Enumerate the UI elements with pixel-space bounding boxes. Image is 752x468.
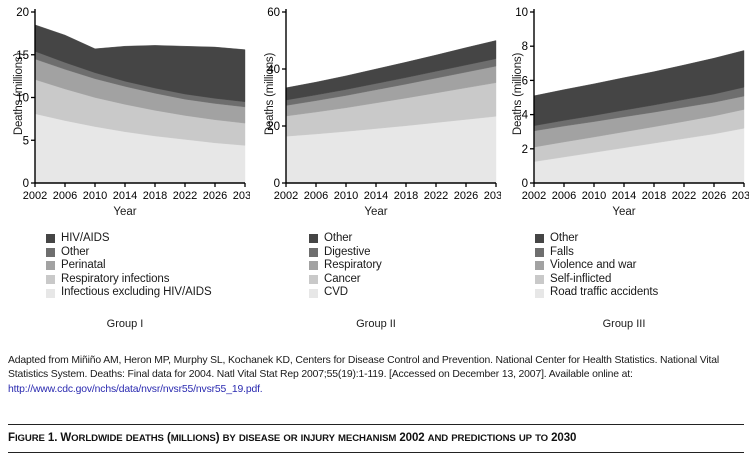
svg-text:0: 0: [274, 178, 280, 190]
legend-item: Other: [535, 232, 658, 246]
legend-item-label: Road traffic accidents: [550, 286, 658, 300]
svg-text:2018: 2018: [394, 190, 418, 202]
svg-text:2022: 2022: [672, 190, 696, 202]
legend-item: HIV/AIDS: [46, 232, 212, 246]
group-label-1: Group I: [0, 318, 250, 330]
plot-area-group-1: Deaths (millions) 0510152020022006201020…: [0, 0, 250, 230]
legend-item-label: Other: [324, 232, 352, 246]
svg-text:20: 20: [267, 121, 280, 133]
legend-group-2: Other Digestive Respiratory Cancer CVD: [309, 232, 382, 300]
svg-text:2002: 2002: [274, 190, 298, 202]
figure-caption: FIGURE 1. WORLDWIDE DEATHS (MILLIONS) BY…: [8, 432, 746, 444]
legend-swatch-icon: [46, 289, 55, 298]
legend-swatch-icon: [535, 248, 544, 257]
legend-item-label: CVD: [324, 286, 348, 300]
legend-item-label: Infectious excluding HIV/AIDS: [61, 286, 212, 300]
title-rule-top: [8, 424, 744, 425]
legend-item: Violence and war: [535, 259, 658, 273]
svg-text:2026: 2026: [454, 190, 478, 202]
legend-swatch-icon: [535, 234, 544, 243]
svg-text:2: 2: [522, 144, 528, 156]
legend-item: Falls: [535, 246, 658, 260]
legend-item: CVD: [309, 286, 382, 300]
svg-text:20: 20: [16, 7, 29, 19]
svg-text:10: 10: [16, 93, 29, 105]
legend-swatch-icon: [46, 275, 55, 284]
legend-item-label: Other: [550, 232, 578, 246]
legend-swatch-icon: [309, 234, 318, 243]
svg-text:2014: 2014: [113, 190, 137, 202]
svg-text:5: 5: [23, 135, 29, 147]
legend-item-label: Other: [61, 246, 89, 260]
plot-area-group-2: Deaths (millions) 0204060200220062010201…: [251, 0, 501, 230]
svg-text:2002: 2002: [23, 190, 47, 202]
legend-swatch-icon: [309, 275, 318, 284]
area-chart-group-2: 020406020022006201020142018202220262030: [251, 0, 501, 205]
group-label-3: Group III: [499, 318, 749, 330]
chart-panel-group-2: Deaths (millions) 0204060200220062010201…: [251, 0, 501, 312]
svg-text:15: 15: [16, 50, 29, 62]
legend-swatch-icon: [309, 248, 318, 257]
chart-panel-group-1: Deaths (millions) 0510152020022006201020…: [0, 0, 250, 312]
area-chart-group-1: 0510152020022006201020142018202220262030: [0, 0, 250, 205]
legend-item: Cancer: [309, 273, 382, 287]
svg-text:2006: 2006: [552, 190, 576, 202]
svg-text:2010: 2010: [334, 190, 358, 202]
legend-swatch-icon: [535, 275, 544, 284]
legend-item-label: Falls: [550, 246, 574, 260]
svg-text:2014: 2014: [364, 190, 388, 202]
legend-swatch-icon: [46, 234, 55, 243]
svg-text:2010: 2010: [582, 190, 606, 202]
svg-text:8: 8: [522, 41, 528, 53]
legend-swatch-icon: [46, 248, 55, 257]
legend-item-label: Respiratory: [324, 259, 382, 273]
legend-item-label: Cancer: [324, 273, 360, 287]
legend-item: Digestive: [309, 246, 382, 260]
legend-swatch-icon: [309, 289, 318, 298]
legend-swatch-icon: [535, 261, 544, 270]
svg-text:2026: 2026: [203, 190, 227, 202]
legend-item: Other: [46, 246, 212, 260]
svg-text:2006: 2006: [53, 190, 77, 202]
legend-group-1: HIV/AIDS Other Perinatal Respiratory inf…: [46, 232, 212, 300]
svg-text:2006: 2006: [304, 190, 328, 202]
legend-item-label: Perinatal: [61, 259, 106, 273]
legend-item: Self-inflicted: [535, 273, 658, 287]
chart-panel-group-3: Deaths (millions) 0246810200220062010201…: [499, 0, 749, 312]
legend-item-label: Violence and war: [550, 259, 636, 273]
legend-item-label: Self-inflicted: [550, 273, 611, 287]
svg-text:2022: 2022: [424, 190, 448, 202]
svg-text:10: 10: [515, 7, 528, 19]
svg-text:0: 0: [23, 178, 29, 190]
area-chart-group-3: 024681020022006201020142018202220262030: [499, 0, 749, 205]
x-axis-label-2: Year: [251, 206, 501, 218]
svg-text:2014: 2014: [612, 190, 636, 202]
footnote-line-1: Adapted from Miñiño AM, Heron MP, Murphy…: [8, 355, 697, 366]
legend-item: Infectious excluding HIV/AIDS: [46, 286, 212, 300]
source-url-part-1[interactable]: http://www.: [8, 384, 57, 395]
source-footnote: Adapted from Miñiño AM, Heron MP, Murphy…: [8, 354, 746, 397]
svg-text:6: 6: [522, 75, 528, 87]
svg-text:2022: 2022: [173, 190, 197, 202]
svg-text:2010: 2010: [83, 190, 107, 202]
svg-text:40: 40: [267, 64, 280, 76]
legend-item-label: Respiratory infections: [61, 273, 169, 287]
source-url-part-2[interactable]: cdc.gov/nchs/data/nvsr/nvsr55/nvsr55_19.…: [57, 384, 262, 395]
legend-item-label: Digestive: [324, 246, 370, 260]
svg-text:2002: 2002: [522, 190, 546, 202]
x-axis-label-1: Year: [0, 206, 250, 218]
legend-swatch-icon: [46, 261, 55, 270]
svg-text:2018: 2018: [642, 190, 666, 202]
legend-item: Respiratory infections: [46, 273, 212, 287]
figure-container: Deaths (millions) 0510152020022006201020…: [0, 0, 752, 468]
title-rule-bottom: [8, 452, 744, 453]
legend-item: Road traffic accidents: [535, 286, 658, 300]
svg-text:2030: 2030: [732, 190, 749, 202]
legend-item-label: HIV/AIDS: [61, 232, 109, 246]
legend-swatch-icon: [309, 261, 318, 270]
x-axis-label-3: Year: [499, 206, 749, 218]
svg-text:60: 60: [267, 7, 280, 19]
svg-text:2030: 2030: [233, 190, 250, 202]
svg-text:4: 4: [522, 110, 529, 122]
legend-item: Perinatal: [46, 259, 212, 273]
legend-item: Other: [309, 232, 382, 246]
legend-item: Respiratory: [309, 259, 382, 273]
group-label-2: Group II: [251, 318, 501, 330]
svg-text:2026: 2026: [702, 190, 726, 202]
svg-text:2018: 2018: [143, 190, 167, 202]
svg-text:0: 0: [522, 178, 528, 190]
plot-area-group-3: Deaths (millions) 0246810200220062010201…: [499, 0, 749, 230]
chart-panels-row: Deaths (millions) 0510152020022006201020…: [0, 0, 752, 312]
legend-group-3: Other Falls Violence and war Self-inflic…: [535, 232, 658, 300]
legend-swatch-icon: [535, 289, 544, 298]
